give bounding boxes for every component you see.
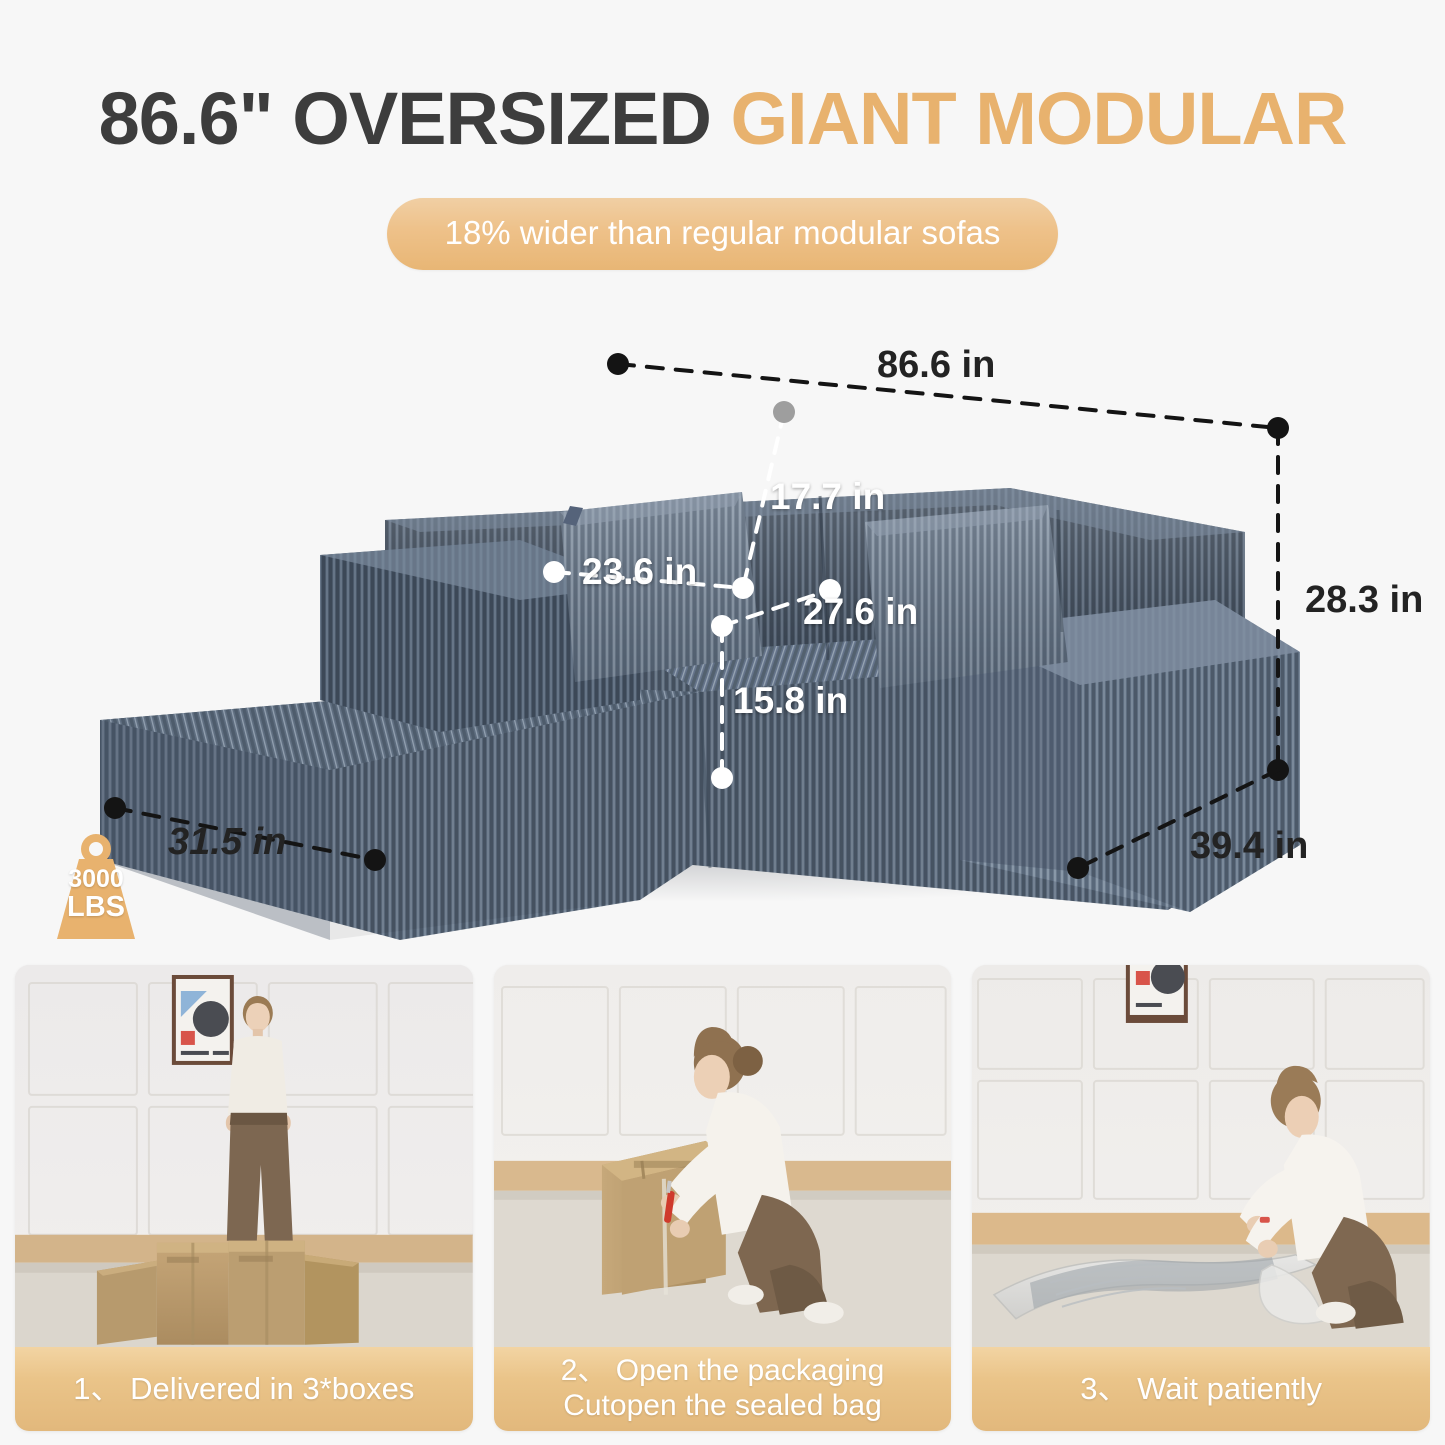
dimension-label-overall-depth: 39.4 in (1190, 827, 1308, 865)
step-3-caption: 3、 Wait patiently (972, 1347, 1430, 1431)
dimension-label-chaise-depth: 31.5 in (168, 823, 286, 861)
weight-value: 3000 (68, 865, 124, 893)
step-3-caption-line-1: 3、 Wait patiently (1080, 1371, 1322, 1407)
subheadline-badge: 18% wider than regular modular sofas (387, 198, 1059, 270)
unboxing-steps: 1、 Delivered in 3*boxes (15, 965, 1430, 1431)
dimension-label-overall-height: 28.3 in (1305, 581, 1423, 619)
step-panel-3[interactable]: 3、 Wait patiently (972, 965, 1430, 1431)
dimension-label-seat-depth: 27.6 in (803, 593, 918, 630)
subheadline-badge-wrap: 18% wider than regular modular sofas (0, 198, 1445, 270)
weight-unit: LBS (67, 891, 125, 923)
headline-accent-part: GIANT MODULAR (730, 77, 1346, 160)
weight-badge-text: 3000 LBS (48, 866, 144, 923)
step-1-caption-line-1: 1、 Delivered in 3*boxes (73, 1371, 414, 1407)
dimension-label-seat-depth-back: 23.6 in (582, 553, 697, 590)
weight-capacity-badge: 3000 LBS (48, 830, 144, 942)
step-panel-1[interactable]: 1、 Delivered in 3*boxes (15, 965, 473, 1431)
dimension-label-seat-height: 15.8 in (733, 682, 848, 719)
step-2-caption: 2、 Open the packaging Cutopen the sealed… (494, 1347, 952, 1431)
dimension-label-backrest-height: 17.7 in (770, 478, 885, 515)
headline-dark-part: 86.6" OVERSIZED (99, 77, 711, 160)
sofa-dimension-diagram: 86.6 in 17.7 in 23.6 in 27.6 in 15.8 in … (0, 300, 1445, 960)
dimension-label-overall-width: 86.6 in (877, 346, 995, 384)
step-panel-2[interactable]: 2、 Open the packaging Cutopen the sealed… (494, 965, 952, 1431)
step-1-caption: 1、 Delivered in 3*boxes (15, 1347, 473, 1431)
infographic-root: 86.6" OVERSIZED GIANT MODULAR 18% wider … (0, 0, 1445, 1445)
page-title: 86.6" OVERSIZED GIANT MODULAR (0, 82, 1445, 156)
step-2-caption-line-1: 2、 Open the packaging (561, 1354, 885, 1389)
step-2-caption-line-2: Cutopen the sealed bag (561, 1389, 885, 1424)
